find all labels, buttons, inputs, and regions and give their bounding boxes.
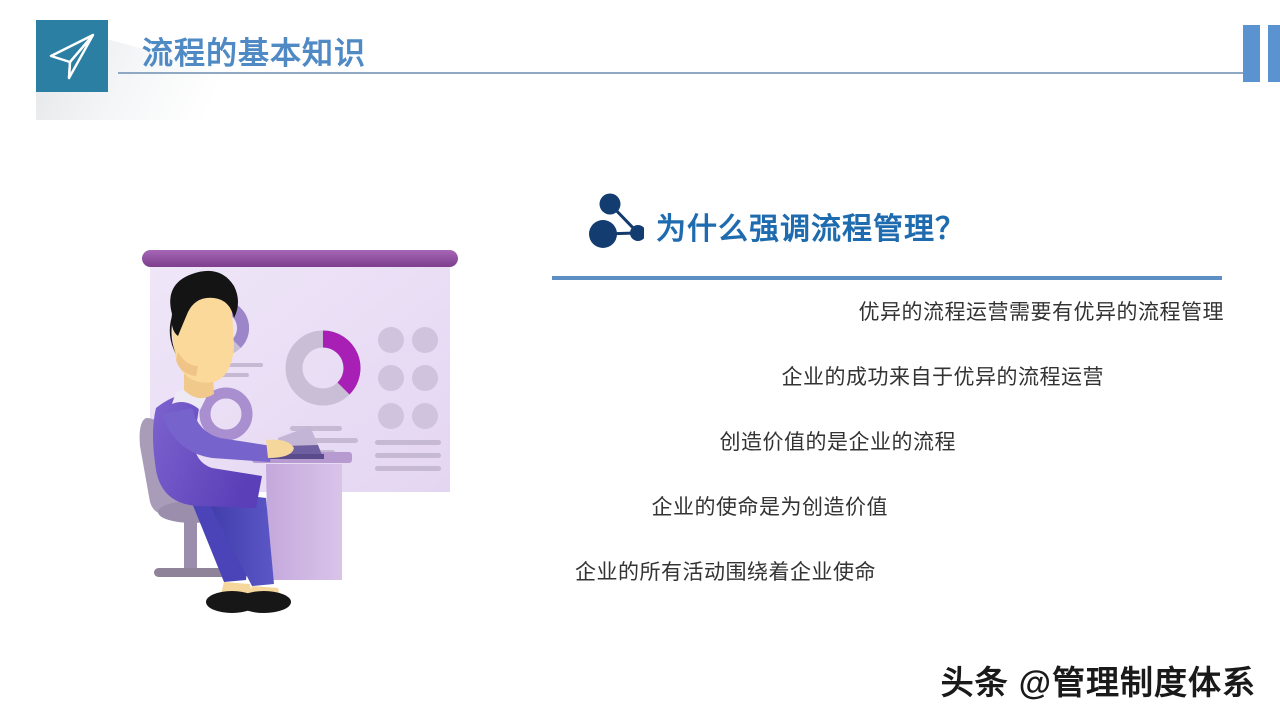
content-divider <box>552 276 1222 280</box>
content-panel: 为什么强调流程管理？ 优异的流程运营需要有优异的流程管理 企业的成功来自于优异的… <box>552 186 1224 258</box>
statement-line: 优异的流程运营需要有优异的流程管理 <box>552 302 1224 323</box>
slide-header: 流程的基本知识 <box>0 0 1280 120</box>
network-nodes-icon <box>572 190 644 248</box>
header-accent-bar-2 <box>1268 25 1280 82</box>
statement-list: 优异的流程运营需要有优异的流程管理 企业的成功来自于优异的流程运营 创造价值的是… <box>552 302 1224 583</box>
statement-line: 企业的使命是为创造价值 <box>552 497 888 518</box>
statement-line: 企业的成功来自于优异的流程运营 <box>552 367 1104 388</box>
page-title: 流程的基本知识 <box>142 28 366 73</box>
header-accent-bar-1 <box>1243 25 1260 82</box>
section-heading: 为什么强调流程管理？ <box>656 204 966 248</box>
section-heading-row: 为什么强调流程管理？ <box>552 186 1224 258</box>
illustration-person-at-desk <box>128 240 488 620</box>
slide: 流程的基本知识 <box>0 0 1280 720</box>
watermark: 头条 @管理制度体系 <box>941 656 1256 704</box>
header-divider <box>118 72 1258 74</box>
statement-line: 创造价值的是企业的流程 <box>552 432 956 453</box>
statement-line: 企业的所有活动围绕着企业使命 <box>552 562 876 583</box>
paper-plane-icon <box>36 20 108 92</box>
